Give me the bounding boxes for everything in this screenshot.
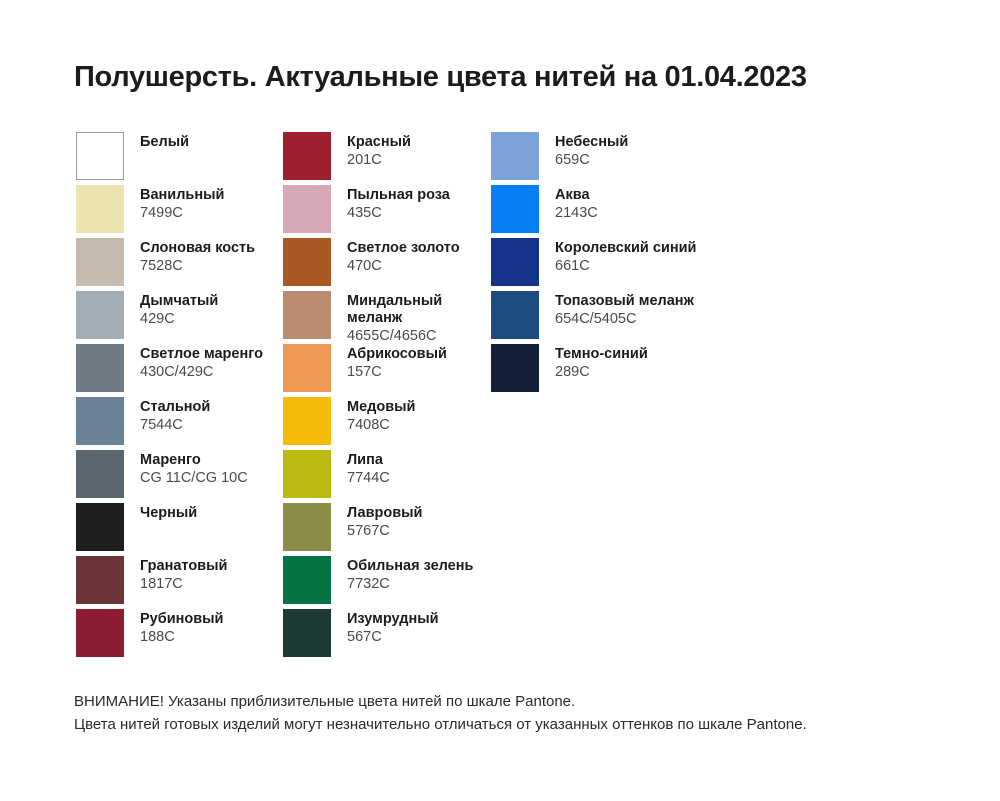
swatch-pantone-code: 7408C xyxy=(347,417,415,434)
swatch-pantone-code: 1817C xyxy=(140,576,227,593)
swatch-row[interactable]: Ванильный7499C xyxy=(76,185,283,233)
swatch-name: Аква xyxy=(555,187,598,204)
swatch-row[interactable]: МаренгоCG 11C/CG 10C xyxy=(76,450,283,498)
swatch-name: Миндальный меланж xyxy=(347,293,477,327)
swatch-row[interactable]: Королевский синий661C xyxy=(491,238,791,286)
color-swatch[interactable] xyxy=(76,609,124,657)
color-swatch[interactable] xyxy=(76,344,124,392)
swatch-name: Гранатовый xyxy=(140,558,227,575)
swatch-text: МаренгоCG 11C/CG 10C xyxy=(140,450,248,487)
swatch-name: Абрикосовый xyxy=(347,346,447,363)
footer-line-1: ВНИМАНИЕ! Указаны приблизительные цвета … xyxy=(74,690,954,713)
swatch-pantone-code: CG 11C/CG 10C xyxy=(140,470,248,487)
swatch-pantone-code: 201C xyxy=(347,152,411,169)
swatch-row[interactable]: Гранатовый1817C xyxy=(76,556,283,604)
swatch-pantone-code: 429C xyxy=(140,311,218,328)
color-swatch[interactable] xyxy=(283,238,331,286)
color-swatch[interactable] xyxy=(76,450,124,498)
swatch-text: Гранатовый1817C xyxy=(140,556,227,593)
swatch-name: Небесный xyxy=(555,134,628,151)
footer-line-2: Цвета нитей готовых изделий могут незнач… xyxy=(74,713,954,736)
swatch-text: Ванильный7499C xyxy=(140,185,224,222)
swatch-row[interactable]: Красный201C xyxy=(283,132,491,180)
swatch-row[interactable]: Белый xyxy=(76,132,283,180)
color-swatch[interactable] xyxy=(283,609,331,657)
color-swatch[interactable] xyxy=(76,132,124,180)
swatch-row[interactable]: Черный xyxy=(76,503,283,551)
color-swatch[interactable] xyxy=(283,503,331,551)
swatch-pantone-code: 4655C/4656C xyxy=(347,328,477,345)
swatch-pantone-code: 5767C xyxy=(347,523,422,540)
swatch-name: Топазовый меланж xyxy=(555,293,694,310)
swatch-name: Маренго xyxy=(140,452,248,469)
swatch-pantone-code: 188C xyxy=(140,629,223,646)
swatch-text: Светлое маренго430C/429C xyxy=(140,344,263,381)
swatch-row[interactable]: Дымчатый429C xyxy=(76,291,283,339)
color-swatch[interactable] xyxy=(283,556,331,604)
swatch-row[interactable]: Слоновая кость7528C xyxy=(76,238,283,286)
swatch-row[interactable]: Липа7744C xyxy=(283,450,491,498)
swatch-text: Изумрудный567C xyxy=(347,609,439,646)
swatch-name: Темно-синий xyxy=(555,346,648,363)
swatch-row[interactable]: Лавровый5767C xyxy=(283,503,491,551)
color-swatch[interactable] xyxy=(491,291,539,339)
color-swatch[interactable] xyxy=(76,397,124,445)
swatch-text: Дымчатый429C xyxy=(140,291,218,328)
swatch-name: Рубиновый xyxy=(140,611,223,628)
color-swatch[interactable] xyxy=(491,132,539,180)
swatch-text: Топазовый меланж654C/5405C xyxy=(555,291,694,328)
swatch-row[interactable]: Стальной7544C xyxy=(76,397,283,445)
swatch-name: Слоновая кость xyxy=(140,240,255,257)
swatch-pantone-code: 7744C xyxy=(347,470,390,487)
color-swatch[interactable] xyxy=(283,344,331,392)
swatch-pantone-code: 157C xyxy=(347,364,447,381)
swatch-pantone-code: 661C xyxy=(555,258,696,275)
swatch-text: Небесный659C xyxy=(555,132,628,169)
swatch-row[interactable]: Топазовый меланж654C/5405C xyxy=(491,291,791,339)
footer-note: ВНИМАНИЕ! Указаны приблизительные цвета … xyxy=(74,690,954,737)
swatch-name: Светлое маренго xyxy=(140,346,263,363)
swatch-text: Абрикосовый157C xyxy=(347,344,447,381)
swatch-name: Белый xyxy=(140,134,189,151)
swatch-pantone-code: 435C xyxy=(347,205,450,222)
palette-column-2: Красный201CПыльная роза435CСветлое золот… xyxy=(283,132,491,662)
swatch-text: Аква2143C xyxy=(555,185,598,222)
color-swatch[interactable] xyxy=(76,291,124,339)
swatch-text: Рубиновый188C xyxy=(140,609,223,646)
swatch-name: Светлое золото xyxy=(347,240,460,257)
palette-column-3: Небесный659CАква2143CКоролевский синий66… xyxy=(491,132,791,397)
swatch-pantone-code: 7528C xyxy=(140,258,255,275)
swatch-row[interactable]: Обильная зелень7732C xyxy=(283,556,491,604)
swatch-text: Черный xyxy=(140,503,197,522)
swatch-name: Пыльная роза xyxy=(347,187,450,204)
swatch-text: Темно-синий289C xyxy=(555,344,648,381)
color-swatch[interactable] xyxy=(76,238,124,286)
color-swatch[interactable] xyxy=(76,503,124,551)
color-swatch[interactable] xyxy=(76,556,124,604)
color-chart-page: Полушерсть. Актуальные цвета нитей на 01… xyxy=(0,0,1000,801)
swatch-name: Обильная зелень xyxy=(347,558,473,575)
color-swatch[interactable] xyxy=(491,185,539,233)
swatch-pantone-code: 470C xyxy=(347,258,460,275)
swatch-row[interactable]: Аква2143C xyxy=(491,185,791,233)
swatch-row[interactable]: Миндальный меланж4655C/4656C xyxy=(283,291,491,339)
swatch-name: Липа xyxy=(347,452,390,469)
color-swatch[interactable] xyxy=(76,185,124,233)
swatch-row[interactable]: Светлое маренго430C/429C xyxy=(76,344,283,392)
swatch-pantone-code: 430C/429C xyxy=(140,364,263,381)
swatch-row[interactable]: Медовый7408C xyxy=(283,397,491,445)
swatch-row[interactable]: Изумрудный567C xyxy=(283,609,491,657)
palette-column-1: БелыйВанильный7499CСлоновая кость7528CДы… xyxy=(76,132,283,662)
swatch-text: Стальной7544C xyxy=(140,397,210,434)
swatch-name: Ванильный xyxy=(140,187,224,204)
color-swatch[interactable] xyxy=(491,344,539,392)
color-swatch[interactable] xyxy=(283,132,331,180)
swatch-text: Королевский синий661C xyxy=(555,238,696,275)
swatch-name: Черный xyxy=(140,505,197,522)
swatch-pantone-code: 654C/5405C xyxy=(555,311,694,328)
swatch-text: Обильная зелень7732C xyxy=(347,556,473,593)
swatch-text: Липа7744C xyxy=(347,450,390,487)
swatch-text: Лавровый5767C xyxy=(347,503,422,540)
color-swatch[interactable] xyxy=(283,291,331,339)
swatch-row[interactable]: Пыльная роза435C xyxy=(283,185,491,233)
swatch-name: Дымчатый xyxy=(140,293,218,310)
swatch-name: Изумрудный xyxy=(347,611,439,628)
swatch-row[interactable]: Небесный659C xyxy=(491,132,791,180)
swatch-pantone-code: 7732C xyxy=(347,576,473,593)
color-swatch[interactable] xyxy=(283,450,331,498)
swatch-pantone-code: 567C xyxy=(347,629,439,646)
swatch-name: Лавровый xyxy=(347,505,422,522)
color-swatch[interactable] xyxy=(283,397,331,445)
swatch-text: Миндальный меланж4655C/4656C xyxy=(347,291,477,344)
swatch-pantone-code: 659C xyxy=(555,152,628,169)
color-swatch[interactable] xyxy=(283,185,331,233)
swatch-pantone-code: 2143C xyxy=(555,205,598,222)
swatch-row[interactable]: Темно-синий289C xyxy=(491,344,791,392)
swatch-name: Королевский синий xyxy=(555,240,696,257)
swatch-name: Стальной xyxy=(140,399,210,416)
swatch-name: Красный xyxy=(347,134,411,151)
color-swatch[interactable] xyxy=(491,238,539,286)
swatch-text: Белый xyxy=(140,132,189,151)
swatch-row[interactable]: Абрикосовый157C xyxy=(283,344,491,392)
swatch-name: Медовый xyxy=(347,399,415,416)
swatch-row[interactable]: Светлое золото470C xyxy=(283,238,491,286)
page-title: Полушерсть. Актуальные цвета нитей на 01… xyxy=(74,61,807,94)
swatch-text: Пыльная роза435C xyxy=(347,185,450,222)
swatch-row[interactable]: Рубиновый188C xyxy=(76,609,283,657)
swatch-text: Медовый7408C xyxy=(347,397,415,434)
swatch-text: Красный201C xyxy=(347,132,411,169)
swatch-pantone-code: 289C xyxy=(555,364,648,381)
palette-grid: БелыйВанильный7499CСлоновая кость7528CДы… xyxy=(76,132,936,662)
swatch-pantone-code: 7544C xyxy=(140,417,210,434)
swatch-text: Светлое золото470C xyxy=(347,238,460,275)
swatch-text: Слоновая кость7528C xyxy=(140,238,255,275)
swatch-pantone-code: 7499C xyxy=(140,205,224,222)
